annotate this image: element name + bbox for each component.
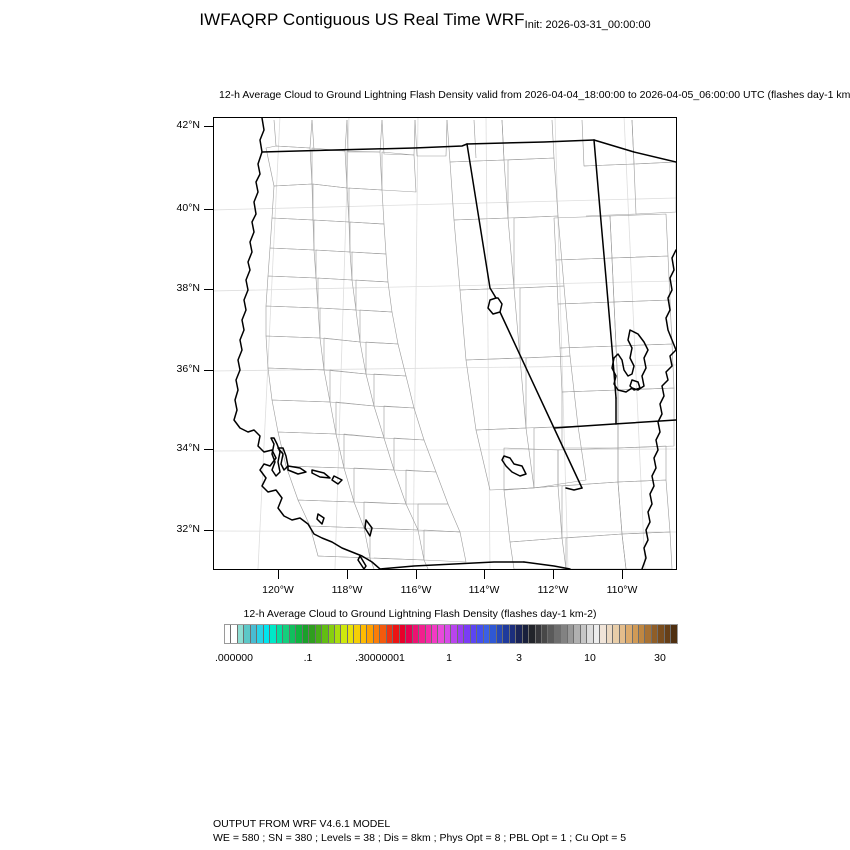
lat-tick-label: 36°N [140,363,200,375]
map-geography [214,118,676,569]
footer: OUTPUT FROM WRF V4.6.1 MODEL WE = 580 ; … [213,818,626,845]
lat-tick-label: 32°N [140,523,200,535]
state-boundaries [234,118,676,569]
colorbar[interactable] [224,624,678,644]
colorbar-swatch-69 [671,625,676,643]
lat-tick [204,449,213,450]
colorbar-title: 12-h Average Cloud to Ground Lightning F… [0,608,850,620]
lon-tick [278,570,279,579]
lat-tick [204,126,213,127]
lon-tick [484,570,485,579]
lon-tick [416,570,417,579]
map-plot-area[interactable] [213,117,677,570]
page-title: IWFAQRP Contiguous US Real Time WRFInit:… [0,10,850,30]
lat-tick-label: 34°N [140,442,200,454]
county-boundaries [266,120,676,569]
plot-subtitle: 12-h Average Cloud to Ground Lightning F… [219,89,850,101]
footer-config-line: WE = 580 ; SN = 380 ; Levels = 38 ; Dis … [213,832,626,846]
lon-tick [622,570,623,579]
lon-tick [553,570,554,579]
lon-tick-label: 114°W [449,584,519,596]
lat-tick [204,530,213,531]
lat-tick [204,289,213,290]
lon-tick-label: 120°W [243,584,313,596]
lat-tick [204,370,213,371]
lat-tick-label: 42°N [140,119,200,131]
lon-tick-label: 116°W [381,584,451,596]
colorbar-tick-label: 30 [600,652,720,664]
lon-tick-label: 118°W [312,584,382,596]
lon-tick-label: 112°W [518,584,588,596]
footer-model-line: OUTPUT FROM WRF V4.6.1 MODEL [213,818,626,832]
title-init-time: Init: 2026-03-31_00:00:00 [525,19,651,31]
lat-tick [204,209,213,210]
lon-tick-label: 110°W [587,584,657,596]
title-model-name: IWFAQRP Contiguous US Real Time WRF [199,10,524,29]
colorbar-title-text: 12-h Average Cloud to Ground Lightning F… [244,608,597,620]
lat-tick-label: 40°N [140,202,200,214]
lon-tick [347,570,348,579]
lat-tick-label: 38°N [140,282,200,294]
